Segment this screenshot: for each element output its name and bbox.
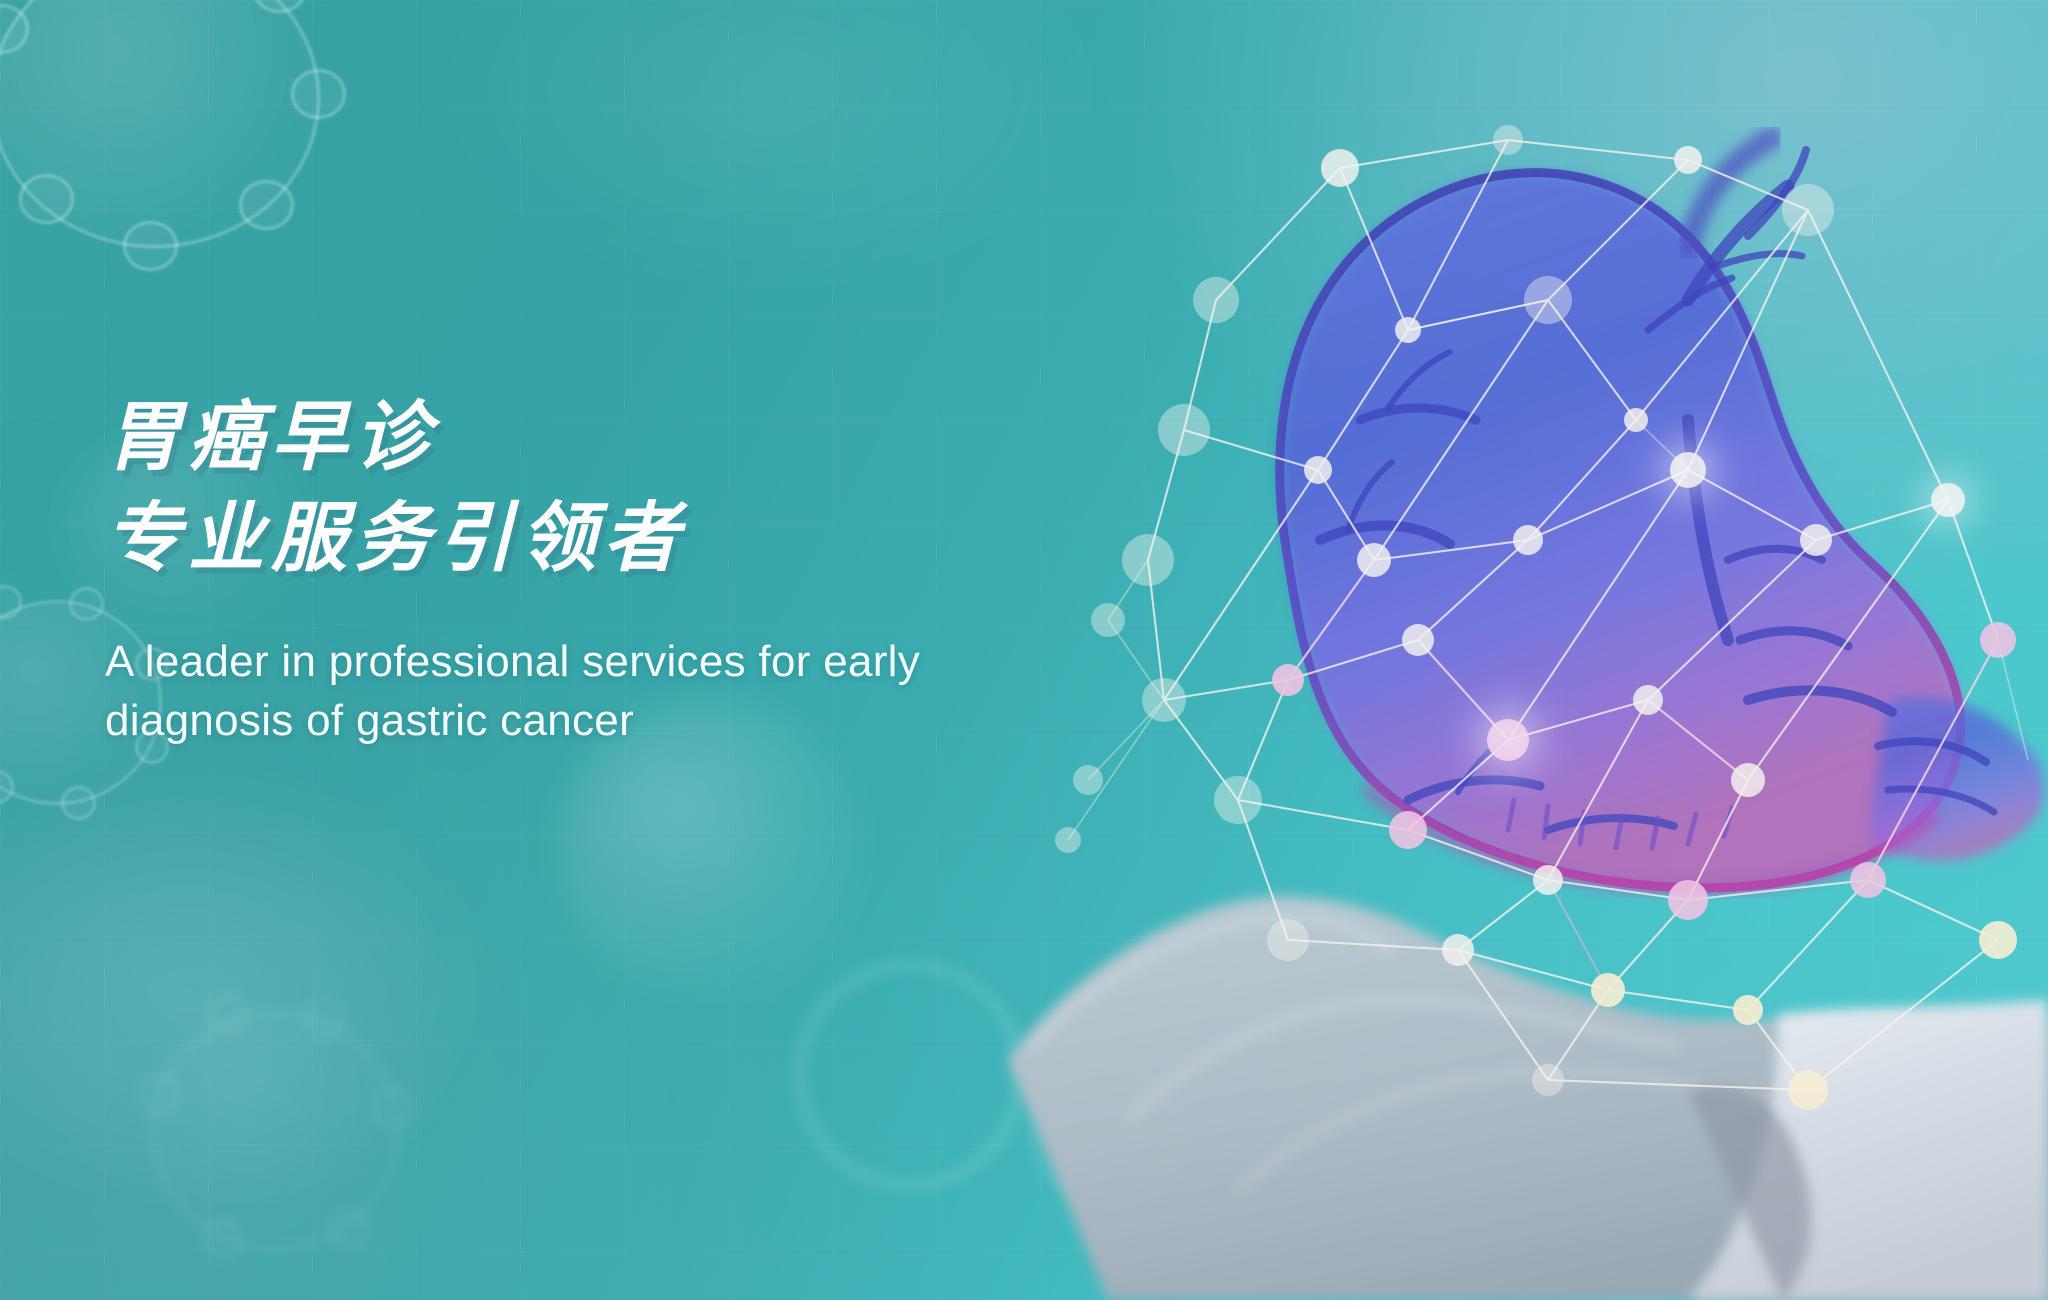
gastric-cancer-hero-banner: 胃癌早诊 专业服务引领者 A leader in professional se… — [0, 0, 2048, 1300]
light-smear-left — [0, 760, 500, 1220]
virus-cell-icon-top-left — [0, 0, 320, 248]
virus-cell-icon-lower-left — [150, 1010, 400, 1250]
hero-artwork — [988, 0, 2048, 1300]
